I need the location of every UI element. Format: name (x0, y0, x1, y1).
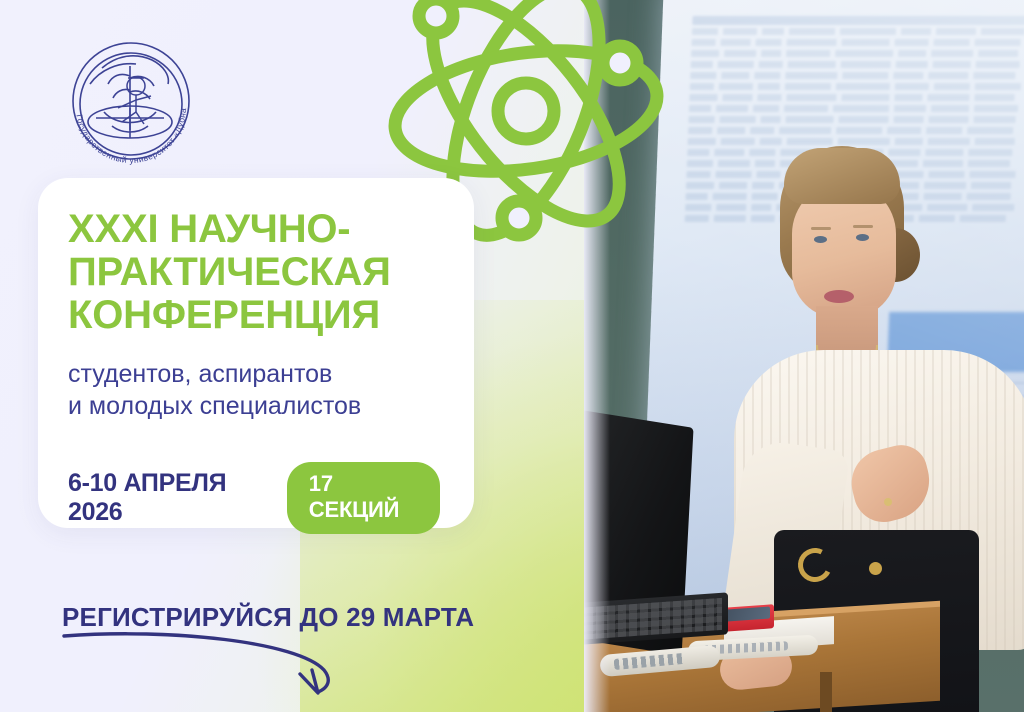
info-card: XXXI НАУЧНО- ПРАКТИЧЕСКАЯ КОНФЕРЕНЦИЯ ст… (38, 178, 474, 528)
belt-stud (869, 562, 882, 575)
university-logo: Государственный университет «Дубна» (56, 26, 206, 176)
conference-title: XXXI НАУЧНО- ПРАКТИЧЕСКАЯ КОНФЕРЕНЦИЯ (68, 208, 440, 336)
conference-dates: 6-10 АПРЕЛЯ 2026 (68, 469, 267, 527)
presenter-fringe (784, 148, 900, 204)
presenter-eyebrow-left (811, 227, 831, 230)
conference-poster: Государственный университет «Дубна» XXXI… (0, 0, 1024, 712)
logo-circular-text: Государственный университет «Дубна» (56, 26, 188, 165)
registration-deadline-text: РЕГИСТРИРУЙСЯ ДО 29 МАРТА (62, 602, 474, 633)
presenter-eye-right (856, 234, 869, 241)
date-badge-row: 6-10 АПРЕЛЯ 2026 17 СЕКЦИЙ (68, 462, 440, 534)
presenter-eye-left (814, 236, 827, 243)
presenter-eyebrow-right (853, 225, 873, 228)
finger-ring (884, 498, 892, 506)
presenter-mouth (824, 290, 854, 303)
conference-subtitle: студентов, аспирантов и молодых специали… (68, 358, 440, 422)
sections-badge: 17 СЕКЦИЙ (287, 462, 440, 534)
desk-leg (820, 672, 832, 712)
curved-arrow-icon (62, 630, 402, 700)
